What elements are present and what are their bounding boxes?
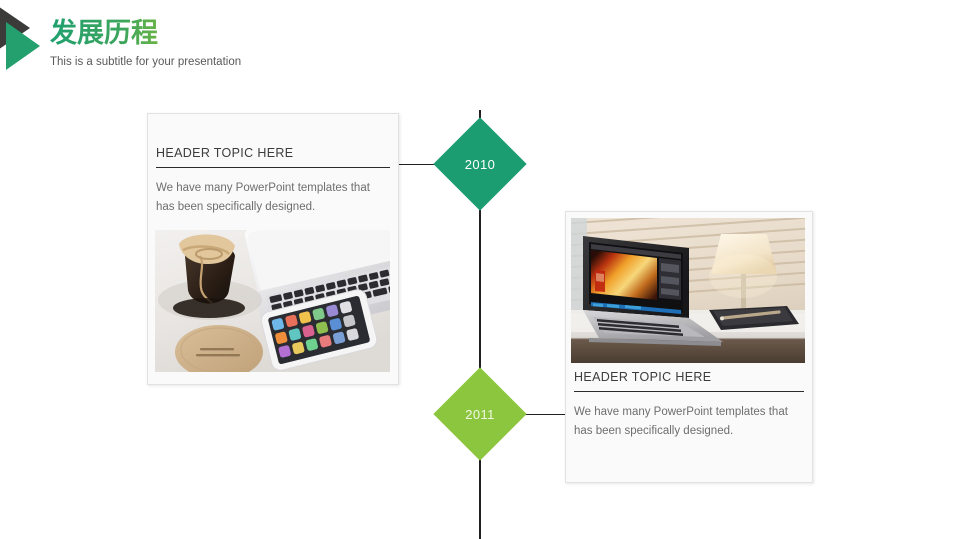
page-title: 发展历程 xyxy=(50,17,241,49)
laptop-photo-editing-desk-lamp-photo xyxy=(571,218,805,363)
slide-header: 发展历程 This is a subtitle for your present… xyxy=(0,0,960,90)
milestone-card-body: We have many PowerPoint templates that h… xyxy=(574,392,804,441)
milestone-card-heading: HEADER TOPIC HERE xyxy=(156,146,390,168)
title-block: 发展历程 This is a subtitle for your present… xyxy=(50,17,241,69)
desk-with-coffee-laptop-phone-photo xyxy=(155,230,390,372)
timeline-marker-2010[interactable]: 2010 xyxy=(433,117,526,210)
milestone-card-body: We have many PowerPoint templates that h… xyxy=(156,168,390,217)
milestone-card-2010-text: HEADER TOPIC HERE We have many PowerPoin… xyxy=(148,114,398,217)
logo-green-triangle xyxy=(6,22,40,70)
timeline-marker-year-label: 2010 xyxy=(447,131,513,197)
timeline-marker-2011[interactable]: 2011 xyxy=(433,367,526,460)
timeline-marker-year-label: 2011 xyxy=(447,381,513,447)
double-arrow-logo-icon xyxy=(0,0,52,72)
page-subtitle: This is a subtitle for your presentation xyxy=(50,55,241,69)
milestone-card-heading: HEADER TOPIC HERE xyxy=(574,370,804,392)
